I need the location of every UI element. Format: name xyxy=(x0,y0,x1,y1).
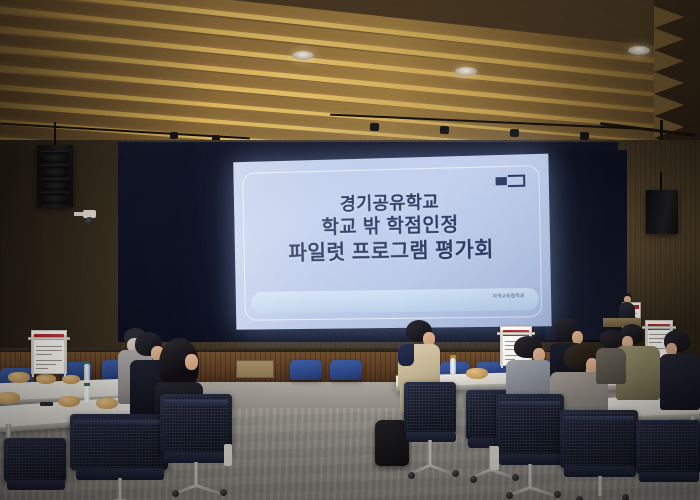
stage-vent-panel xyxy=(236,360,274,378)
navy-hood xyxy=(398,344,414,366)
speaker-mount-right xyxy=(660,172,662,192)
mesh-chair-left-front[interactable] xyxy=(70,414,168,500)
attendee-right-mid xyxy=(596,330,626,384)
auditorium-scene: 경기공유학교 학교 밖 학점인정 파일럿 프로그램 평가회 지역교육협력과 xyxy=(0,0,700,500)
wall-speaker-right xyxy=(646,190,678,234)
bread-roll xyxy=(466,368,488,379)
mobile-phone xyxy=(40,402,53,406)
mesh-chair-right-front[interactable] xyxy=(496,394,564,500)
attendee-far-right-dark xyxy=(660,330,700,410)
line-array-speaker-left xyxy=(37,145,73,207)
screen-glare xyxy=(233,154,551,330)
bread-roll xyxy=(36,374,56,384)
mesh-chair-right-fore[interactable] xyxy=(560,410,638,500)
bread-roll xyxy=(96,398,118,409)
blue-chair[interactable] xyxy=(290,360,322,380)
ceiling-downlight xyxy=(455,67,477,76)
projection-screen[interactable]: 경기공유학교 학교 밖 학점인정 파일럿 프로그램 평가회 지역교육협력과 xyxy=(233,154,551,330)
bread-roll xyxy=(8,372,30,383)
stage-backdrop-right xyxy=(545,150,627,340)
mesh-chair-far-right[interactable] xyxy=(636,420,700,500)
security-camera xyxy=(74,210,96,226)
blue-chair[interactable] xyxy=(330,360,362,380)
speaker-suspension-wire xyxy=(54,122,56,146)
ceiling-track-lights xyxy=(330,110,700,136)
mesh-chair-far-left[interactable] xyxy=(4,438,66,500)
ceiling-downlight xyxy=(628,46,650,55)
table-sign-left xyxy=(31,330,67,374)
water-bottle xyxy=(450,358,456,374)
mesh-chair-left-mid[interactable] xyxy=(160,394,232,498)
ceiling-downlight xyxy=(292,51,314,60)
bread-roll xyxy=(58,396,80,407)
water-bottle xyxy=(84,386,90,402)
water-bottle xyxy=(84,364,90,381)
mesh-chair-center[interactable] xyxy=(404,382,456,490)
